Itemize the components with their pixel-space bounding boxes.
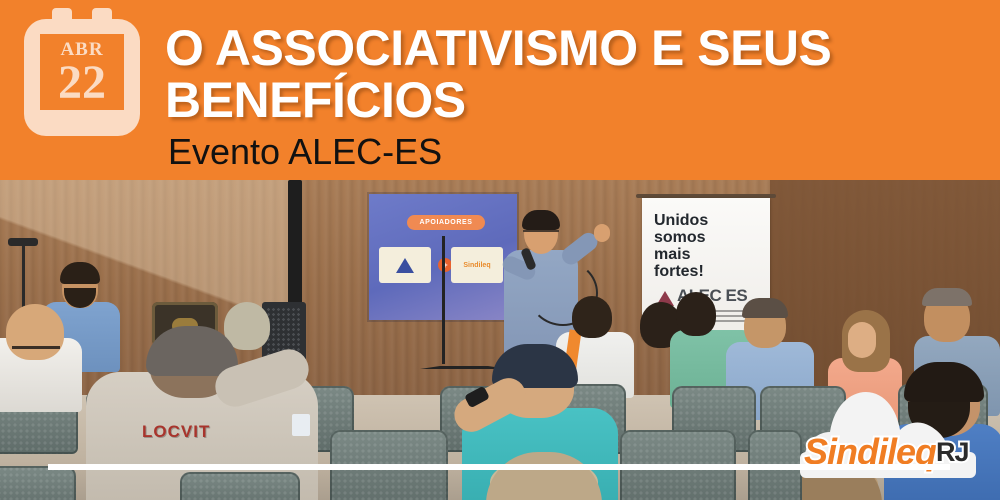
- attendee-hair-grey: [922, 288, 972, 306]
- left-tripod-head: [8, 238, 38, 246]
- screen-plus-icon: +: [438, 258, 452, 272]
- event-photo: APOIADORES + Sindileq Unidos somos mais …: [0, 180, 1000, 500]
- event-poster: ABR 22 O ASSOCIATIVISMO E SEUS BENEFÍCIO…: [0, 0, 1000, 500]
- banner-slogan: Unidos somos mais fortes!: [654, 212, 708, 280]
- title-line-2: BENEFÍCIOS: [165, 74, 985, 126]
- attendee-glasses-bald: [12, 346, 60, 357]
- page-title: O ASSOCIATIVISMO E SEUS BENEFÍCIOS: [165, 22, 985, 126]
- bottom-divider: [48, 464, 950, 470]
- poster-header: ABR 22 O ASSOCIATIVISMO E SEUS BENEFÍCIO…: [0, 0, 1000, 180]
- attendee-hair-lightblue: [742, 298, 788, 318]
- uniform-logo-text: LOCVIT: [142, 422, 210, 442]
- title-line-1: O ASSOCIATIVISMO E SEUS: [165, 22, 985, 74]
- speaker-glasses: [523, 230, 559, 239]
- screen-apoiadores-pill: APOIADORES: [407, 215, 485, 230]
- speaker-hand-right: [594, 224, 610, 242]
- attendee-face-peach: [848, 322, 876, 358]
- calendar-icon: ABR 22: [24, 8, 140, 136]
- banner-line-3: mais: [654, 246, 708, 263]
- chair-row1-4: [0, 466, 76, 500]
- banner-line-1: Unidos: [654, 212, 708, 229]
- banner-line-2: somos: [654, 229, 708, 246]
- uniform-sleeve-badge: [292, 414, 310, 436]
- attendee-head-green: [676, 292, 716, 336]
- calendar-day-label: 22: [40, 56, 124, 110]
- analoc-triangle-icon: [396, 258, 414, 273]
- banner-line-4: fortes!: [654, 263, 708, 280]
- chair-row1-5: [180, 472, 300, 500]
- attendee-head-back-3: [572, 296, 612, 338]
- page-subtitle: Evento ALEC-ES: [168, 132, 442, 172]
- screen-sponsor-left: [379, 247, 431, 283]
- screen-sponsor-right: Sindileq: [451, 247, 503, 283]
- speaker-hair: [522, 210, 560, 230]
